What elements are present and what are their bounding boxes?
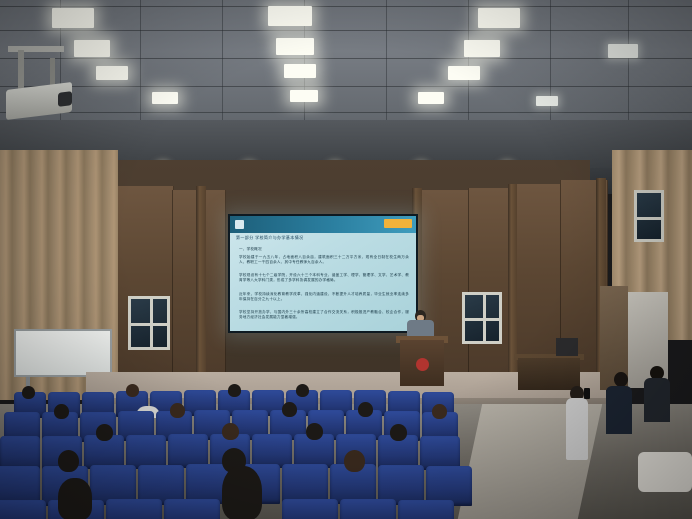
projection-screen: 第一部分 学校简介与办学基本情况 一、学校概况 学校始建于一九五八年，占地面积八… — [228, 214, 418, 333]
audience-person-head — [390, 424, 407, 441]
audience-chair — [282, 464, 328, 504]
audience-chair — [282, 499, 338, 519]
wall-pillar — [196, 186, 206, 386]
slide-paragraph: 学校坚持开放办学，与国内外三十余所高校建立了合作交流关系，积极推进产教融合、校企… — [239, 310, 409, 321]
audience-chair — [168, 434, 208, 468]
projector-lens-icon — [58, 91, 72, 107]
audience-chair — [164, 499, 220, 519]
audience-chair — [0, 500, 46, 519]
ceiling-light-panel — [52, 8, 94, 28]
ceiling-light-panel — [608, 44, 638, 58]
audience-person-head — [306, 423, 323, 440]
slide-section-heading: 一、学校概况 — [239, 247, 262, 252]
audience-chair — [420, 436, 460, 470]
audience-person-head — [432, 404, 447, 419]
audience-chair — [126, 435, 166, 469]
lecture-hall-photo: 第一部分 学校简介与办学基本情况 一、学校概况 学校始建于一九五八年，占地面积八… — [0, 0, 692, 519]
ceiling-light-panel — [290, 90, 318, 102]
wall-wood-panel — [116, 186, 174, 386]
audience-person-head — [344, 450, 365, 472]
audience-person-head — [282, 402, 297, 417]
audience-person-head — [126, 384, 139, 397]
audience-chair — [398, 500, 454, 519]
slide-header-band — [230, 216, 416, 233]
audience-person-head — [296, 384, 309, 397]
audience-person-head — [58, 450, 79, 472]
right-attendee-head — [614, 372, 628, 387]
ceiling-light-panel — [418, 92, 444, 104]
ceiling-light-panel — [478, 8, 520, 28]
whiteboard — [14, 329, 112, 377]
audience-chair — [252, 434, 292, 468]
ceiling-light-panel — [268, 6, 312, 26]
ceiling-light-panel — [152, 92, 178, 104]
audience-chair — [340, 499, 396, 519]
phone-icon — [584, 388, 590, 399]
right-attendee-body — [644, 378, 670, 422]
ceiling-light-panel — [536, 96, 558, 106]
wall-wood-panel — [514, 184, 562, 376]
wall-window — [128, 296, 170, 350]
audience-chair — [106, 499, 162, 519]
side-table — [518, 358, 580, 390]
ceiling-light-panel — [96, 66, 128, 80]
audience-person-head — [22, 386, 35, 399]
wall-window — [634, 190, 664, 242]
slide-paragraph: 学校始建于一九五八年，占地面积八百余亩，建筑面积三十二万平方米，现有全日制在校生… — [239, 255, 409, 266]
audience-person-head — [96, 424, 113, 441]
slide-paragraph: 近年来，学校持续深化教育教学改革，强化内涵建设，不断提升人才培养质量，毕业生就业… — [239, 292, 409, 303]
audience-person-head — [228, 384, 241, 397]
white-bag — [638, 452, 692, 492]
audience-person-head — [58, 478, 92, 519]
ceiling-light-panel — [276, 38, 314, 55]
podium-emblem-icon — [416, 358, 429, 371]
audience-person-head — [358, 402, 373, 417]
ceiling-light-panel — [448, 66, 480, 80]
slide-accent-tab — [384, 219, 412, 228]
ceiling-light-panel — [464, 40, 500, 57]
slide-logo-icon — [235, 220, 244, 229]
right-attendee-body — [606, 386, 632, 434]
ceiling-light-panel — [74, 40, 110, 57]
standing-person-in-white-jacket — [566, 398, 588, 460]
audience-person-head — [222, 423, 239, 440]
wall-pillar — [508, 184, 517, 378]
projector-mount-arm — [18, 50, 24, 90]
audience-person-head — [222, 466, 262, 519]
audience-person-head — [170, 403, 185, 418]
projector-mount-plate — [8, 46, 64, 52]
equipment-case — [556, 338, 578, 356]
ceiling-light-panel — [284, 64, 316, 78]
audience-chair — [0, 436, 40, 470]
slide-paragraph: 学校现设有十七个二级学院，开设六十三个本科专业，涵盖工学、理学、管理学、文学、艺… — [239, 273, 409, 284]
wall-window — [462, 292, 502, 344]
audience-person-head — [54, 404, 69, 419]
slide-title: 第一部分 学校简介与办学基本情况 — [236, 235, 304, 241]
